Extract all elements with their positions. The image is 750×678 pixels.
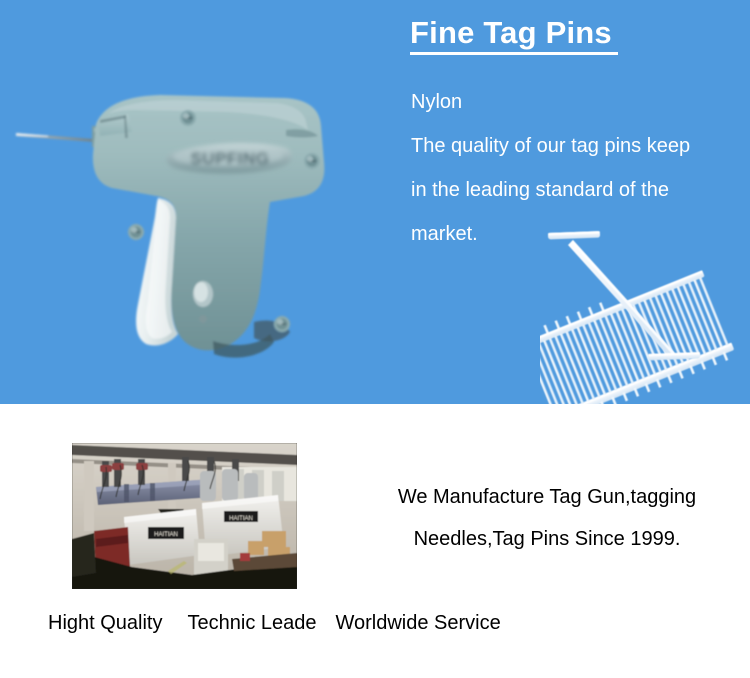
svg-text:HAITIAN: HAITIAN bbox=[229, 516, 253, 522]
company-info-section: HAITIAN HAITIAN bbox=[0, 404, 750, 678]
feature-hight-quality: Hight Quality bbox=[48, 609, 163, 637]
feature-row: Hight Quality Technic Leade Worldwide Se… bbox=[48, 609, 708, 637]
manufacture-statement: We Manufacture Tag Gun,tagging Needles,T… bbox=[352, 476, 742, 560]
feature-worldwide-service: Worldwide Service bbox=[335, 609, 500, 637]
title-underline bbox=[410, 52, 618, 55]
tag-gun-photo: SUPFING bbox=[8, 76, 358, 376]
description-line-1: The quality of our tag pins keep bbox=[411, 124, 747, 168]
factory-machines-photo: HAITIAN HAITIAN bbox=[72, 443, 297, 589]
statement-line-1: We Manufacture Tag Gun,tagging bbox=[352, 476, 742, 518]
description-line-3: market. bbox=[411, 212, 747, 256]
hero-banner: SUPFING bbox=[0, 0, 750, 404]
svg-text:SUPFING: SUPFING bbox=[190, 149, 269, 168]
feature-technic-leade: Technic Leade bbox=[188, 609, 317, 637]
statement-line-2: Needles,Tag Pins Since 1999. bbox=[352, 518, 742, 560]
product-banner-page: SUPFING bbox=[0, 0, 750, 678]
svg-text:HAITIAN: HAITIAN bbox=[154, 532, 178, 538]
material-label: Nylon bbox=[411, 80, 747, 124]
description-line-2: in the leading standard of the bbox=[411, 168, 747, 212]
hero-description: Nylon The quality of our tag pins keep i… bbox=[411, 80, 747, 256]
page-title: Fine Tag Pins bbox=[410, 14, 740, 52]
